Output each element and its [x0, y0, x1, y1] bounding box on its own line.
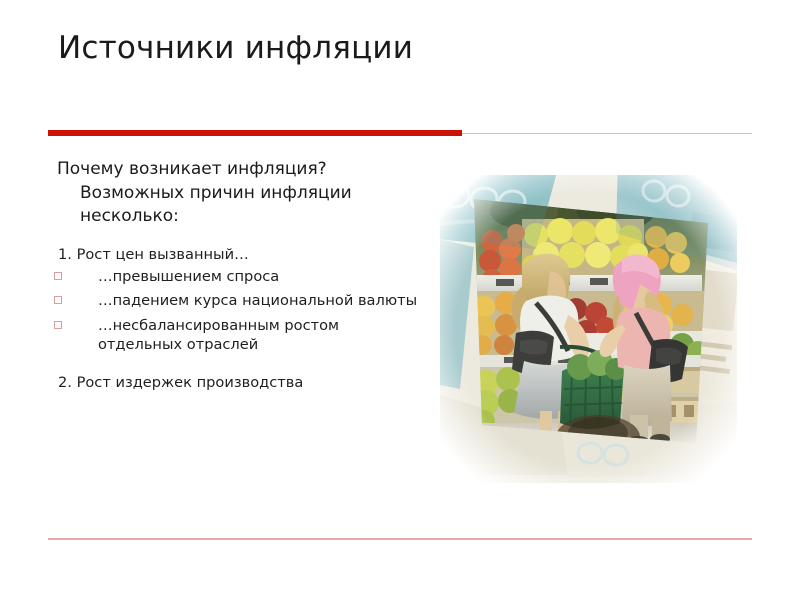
- header-divider-accent: [48, 130, 462, 136]
- slide: Источники инфляции Почему возникает инфл…: [0, 0, 800, 600]
- square-bullet-icon: [54, 296, 62, 304]
- square-bullet-icon: [54, 272, 62, 280]
- numbered-item-1: 1. Рост цен вызванный…: [48, 245, 423, 265]
- slide-image: [440, 175, 737, 483]
- numbered-item-2: 2. Рост издержек производства: [48, 373, 423, 393]
- page-title: Источники инфляции: [58, 27, 758, 69]
- content-text-column: Почему возникает инфляция? Возможных при…: [48, 158, 423, 393]
- footer-divider: [48, 538, 752, 540]
- causes-bullet-list: …превышением спроса …падением курса наци…: [48, 267, 423, 355]
- list-item: …превышением спроса: [48, 267, 418, 287]
- square-bullet-icon: [54, 321, 62, 329]
- list-item: …падением курса национальной валюты: [48, 291, 418, 311]
- list-item-label: …несбалансированным ростом отдельных отр…: [98, 317, 339, 354]
- list-item: …несбалансированным ростом отдельных отр…: [48, 316, 418, 355]
- market-shoppers-banknotes-illustration: [440, 175, 737, 483]
- lead-paragraph: Почему возникает инфляция? Возможных при…: [48, 158, 380, 229]
- list-item-label: …превышением спроса: [98, 268, 279, 285]
- list-item-label: …падением курса национальной валюты: [98, 292, 417, 309]
